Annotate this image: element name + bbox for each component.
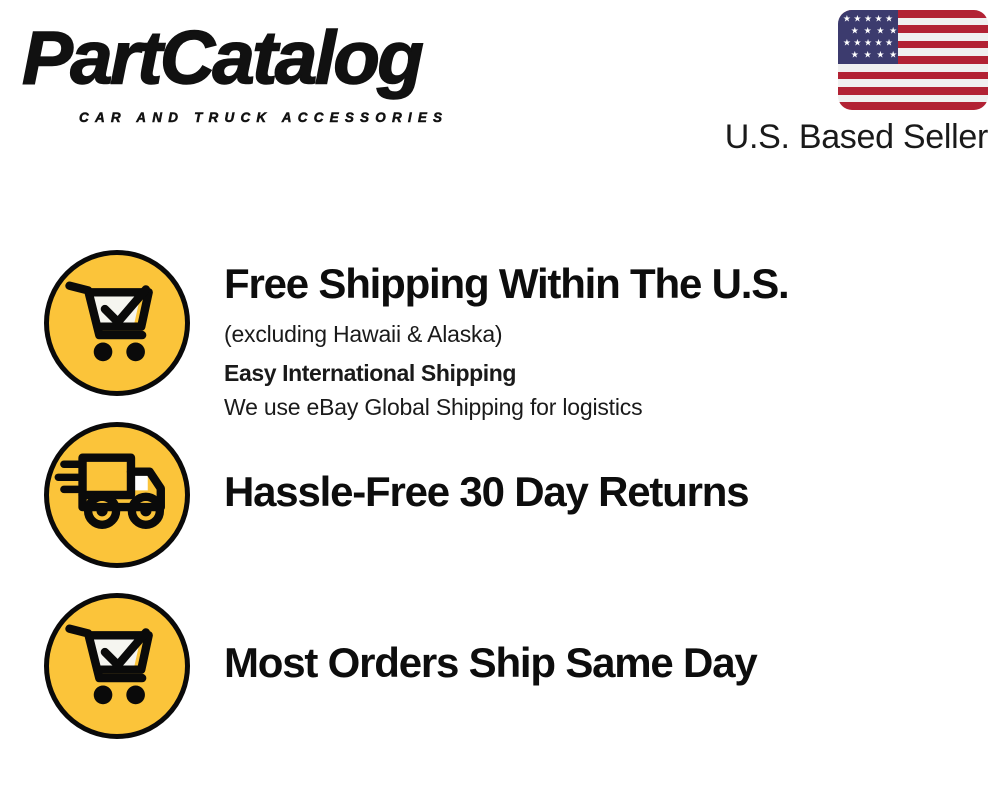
feature-headline: Most Orders Ship Same Day xyxy=(224,639,984,687)
feature-row: Hassle-Free 30 Day Returns xyxy=(0,422,1000,568)
delivery-truck-icon xyxy=(44,422,190,568)
feature-headline: Hassle-Free 30 Day Returns xyxy=(224,468,984,516)
feature-text: Hassle-Free 30 Day Returns xyxy=(224,468,984,516)
shopping-cart-check-icon xyxy=(44,593,190,739)
feature-headline: Free Shipping Within The U.S. xyxy=(224,260,984,308)
feature-row: Most Orders Ship Same Day xyxy=(0,593,1000,739)
feature-subline-international: Easy International Shipping xyxy=(224,356,984,390)
shopping-cart-check-icon xyxy=(44,250,190,396)
feature-text: Most Orders Ship Same Day xyxy=(224,639,984,687)
feature-list: Free Shipping Within The U.S. (excluding… xyxy=(0,0,1000,800)
feature-row: Free Shipping Within The U.S. (excluding… xyxy=(0,250,1000,398)
feature-text: Free Shipping Within The U.S. (excluding… xyxy=(224,260,984,424)
seller-banner: PartCatalog CAR AND TRUCK ACCESSORIES ★★… xyxy=(0,0,1000,800)
feature-subline-logistics: We use eBay Global Shipping for logistic… xyxy=(224,390,984,424)
feature-subline-exclusions: (excluding Hawaii & Alaska) xyxy=(224,317,984,351)
